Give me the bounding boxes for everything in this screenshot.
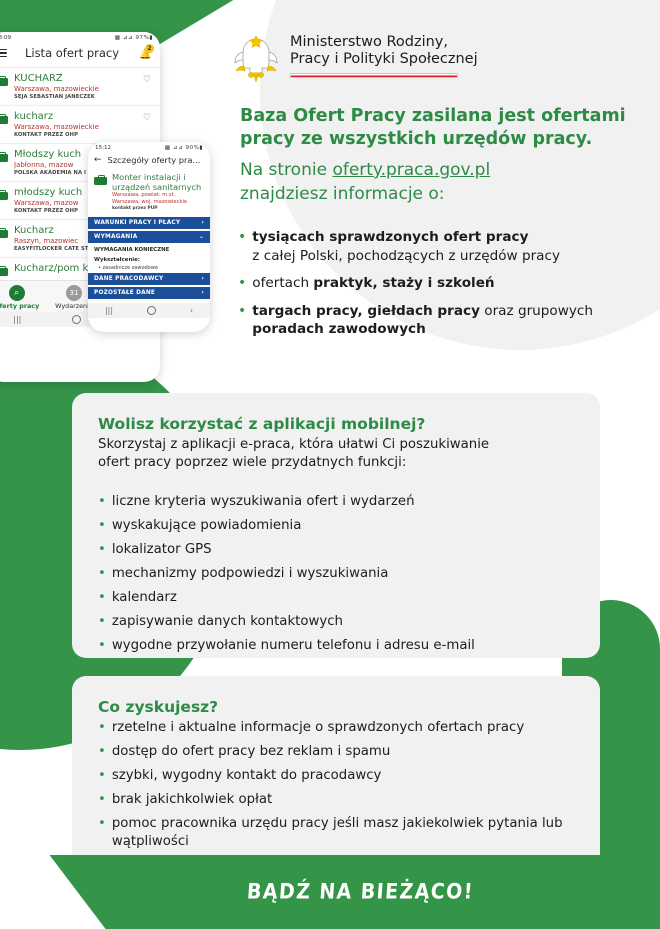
nav-recents-icon[interactable]: ||| [13,315,21,324]
bullet-bold-second-line: poradach zawodowych [252,321,426,337]
bullet-dot-icon: • [98,767,106,785]
polish-flag-bar [290,73,458,78]
detail-offer-title-line2: urządzeń sanitarnych [112,182,204,192]
search-icon: ⌕ [9,285,25,301]
bullet-dot-icon: • [98,613,106,631]
bullet-suffix-text: oraz grupowych [480,303,593,319]
list-item-label: wyskakujące powiadomienia [112,517,574,535]
bullet-dot-icon: • [98,517,106,535]
list-item: •pomoc pracownika urzędu pracy jeśli mas… [98,815,574,850]
detail-title: Szczegóły oferty pra... [104,155,204,165]
list-item: •wyskakujące powiadomienia [98,517,574,535]
detail-app-bar: ← Szczegóły oferty pra... [88,152,210,170]
section-dane-pracodawcy[interactable]: DANE PRACODAWCY › [88,273,210,285]
offer-location: Warszawa, mazowieckie [14,85,143,94]
bullet-dot-icon: • [98,493,106,511]
phone-status-bar: 13:09 ▩ ⊿⊿ 97%▮ [0,32,160,42]
hamburger-menu-icon[interactable] [0,49,7,58]
card-mobile-app: Wolisz korzystać z aplikacji mobilnej? S… [72,393,600,658]
bullet-dot-icon: • [238,274,246,293]
briefcase-icon [0,152,8,162]
top-bullet-list: • tysiącach sprawdzonych ofert pracy z c… [238,228,648,348]
list-item: •szybki, wygodny kontakt do pracodawcy [98,767,574,785]
chevron-right-icon: › [201,276,204,282]
list-item-label: brak jakichkolwiek opłat [112,791,574,809]
bullet-bold-text: praktyk, staży i szkoleń [313,275,494,291]
bullet-dot-icon: • [98,815,106,850]
offer-employer: SEJA SEBASTIAN JANECZEK [14,94,143,101]
requirements-heading: WYMAGANIA KONIECZNE [88,243,210,253]
phone-status-bar: 15:12 ▩ ⊿⊿ 90%▮ [88,142,210,152]
chevron-right-icon: › [201,220,204,226]
favourite-heart-icon[interactable]: ♡ [143,113,153,139]
section-label: WYMAGANIA [94,234,137,240]
notification-bell-icon[interactable]: 🔔 2 [137,45,153,61]
section-label: DANE PRACODAWCY [94,276,163,282]
list-item: •liczne kryteria wyszukiwania ofert i wy… [98,493,574,511]
briefcase-icon [0,266,8,276]
list-item: •lokalizator GPS [98,541,574,559]
chevron-right-icon: › [201,290,204,296]
gains-list: •rzetelne i aktualne informacje o sprawd… [98,719,574,850]
phone-mockup-offer-detail: 15:12 ▩ ⊿⊿ 90%▮ ← Szczegóły oferty pra..… [88,142,210,332]
headline-bold-line-1: Baza Ofert Pracy zasilana jest ofertami [240,105,640,128]
ministry-name-line-2: Pracy i Polityki Społecznej [290,51,478,68]
list-item-label: wygodne przywołanie numeru telefonu i ad… [112,637,574,655]
bullet-dot-icon: • [98,589,106,607]
status-right-icons: ▩ ⊿⊿ 97%▮ [115,35,153,41]
section-pozostale-dane[interactable]: POZOSTAŁE DANE › [88,287,210,299]
list-item: •wygodne przywołanie numeru telefonu i a… [98,637,574,655]
briefcase-icon [0,190,8,200]
list-item: •zapisywanie danych kontaktowych [98,613,574,631]
bottom-banner-text: BĄDŹ NA BIEŻĄCO! [246,880,474,905]
status-time: 13:09 [0,35,11,41]
offer-title: KUCHARZ [14,73,143,85]
bottom-banner-text-wrap: BĄDŹ NA BIEŻĄCO! [0,855,660,929]
section-label: POZOSTAŁE DANE [94,290,155,296]
back-arrow-icon[interactable]: ← [94,155,104,165]
list-item-label: zapisywanie danych kontaktowych [112,613,574,631]
list-item-label: szybki, wygodny kontakt do pracodawcy [112,767,574,785]
card-what-you-gain: Co zyskujesz? •rzetelne i aktualne infor… [72,676,600,870]
mobile-feature-list: •liczne kryteria wyszukiwania ofert i wy… [98,493,574,655]
section-wymagania[interactable]: WYMAGANIA ⌄ [88,231,210,243]
list-item: •brak jakichkolwiek opłat [98,791,574,809]
calendar-icon: 31 [66,285,82,301]
ministry-name-line-1: Ministerstwo Rodziny, [290,34,478,51]
headline-block: Baza Ofert Pracy zasilana jest ofertami … [240,105,640,206]
bullet-dot-icon: • [98,541,106,559]
offer-location: Warszawa, mazowieckie [14,123,143,132]
detail-offer-contact: kontakt przez PUP [112,206,204,212]
list-item: • tysiącach sprawdzonych ofert pracy z c… [238,228,648,265]
phone-app-bar: Lista ofert pracy 🔔 2 [0,42,160,67]
nav-home-icon[interactable] [72,315,81,324]
polish-eagle-emblem [232,30,280,86]
nav-home-icon[interactable] [147,306,156,315]
section-warunki-pracy[interactable]: WARUNKI PRACY I PŁACY › [88,217,210,229]
card-title: Co zyskujesz? [98,698,574,716]
briefcase-icon [0,76,8,86]
section-label: WARUNKI PRACY I PŁACY [94,220,180,226]
android-nav-bar[interactable]: ||| ‹ [88,303,210,318]
bullet-bold-text: targach pracy, giełdach pracy [252,303,480,319]
bullet-dot-icon: • [98,565,106,583]
status-right-icons: ▩ ⊿⊿ 90%▮ [165,145,203,151]
list-item-label: pomoc pracownika urzędu pracy jeśli masz… [112,815,574,850]
nav-back-icon[interactable]: ‹ [190,306,193,315]
headline-prefix: Na stronie [240,160,332,180]
favourite-heart-icon[interactable]: ♡ [143,75,153,101]
bullet-dot-icon: • [98,719,106,737]
bullet-secondary-text: z całej Polski, pochodzących z urzędów p… [252,248,560,264]
briefcase-icon [0,228,8,238]
card-subtitle-line-1: Skorzystaj z aplikacji e-praca, która uł… [98,436,574,454]
detail-offer-location-2: Warszawa, woj. mazowieckie [112,199,204,206]
detail-offer-location-1: Warszawa, powiat: m.st. [112,192,204,199]
offer-title: kucharz [14,111,143,123]
list-item-label: liczne kryteria wyszukiwania ofert i wyd… [112,493,574,511]
bullet-prefix-text: ofertach [252,275,313,291]
headline-bold-line-2: pracy ze wszystkich urzędów pracy. [240,128,640,151]
nav-recents-icon[interactable]: ||| [105,306,113,315]
headline-suffix: znajdziesz informacje o: [240,182,640,206]
tab-oferty-pracy[interactable]: ⌕ Oferty pracy [0,285,45,310]
bullet-dot-icon: • [238,228,246,265]
card-title: Wolisz korzystać z aplikacji mobilnej? [98,415,574,433]
list-item: •rzetelne i aktualne informacje o sprawd… [98,719,574,737]
briefcase-icon [94,175,107,185]
requirements-item: • zasadnicze zawodowe [88,263,210,271]
tab-label: Oferty pracy [0,302,45,310]
status-time: 15:12 [95,145,111,151]
bullet-dot-icon: • [98,743,106,761]
list-item-label: rzetelne i aktualne informacje o sprawdz… [112,719,574,737]
requirements-subheading: Wykształcenie: [88,253,210,263]
notification-badge: 2 [145,44,154,53]
list-item-label: mechanizmy podpowiedzi i wyszukiwania [112,565,574,583]
bullet-dot-icon: • [98,791,106,809]
list-item[interactable]: kucharz Warszawa, mazowieckie KONTAKT PR… [0,105,160,143]
list-item-label: dostęp do ofert pracy bez reklam i spamu [112,743,574,761]
headline-regular: Na stronie oferty.praca.gov.pl znajdzies… [240,158,640,206]
card-subtitle-line-2: ofert pracy poprzez wiele przydatnych fu… [98,454,574,472]
briefcase-icon [0,114,8,124]
chevron-down-icon: ⌄ [199,234,204,240]
website-link[interactable]: oferty.praca.gov.pl [332,160,490,180]
list-item: • targach pracy, giełdach pracy oraz gru… [238,302,648,339]
detail-offer-title-line1: Monter instalacji i [112,172,204,182]
app-bar-title: Lista ofert pracy [7,46,137,60]
bullet-dot-icon: • [98,637,106,655]
bullet-dot-icon: • [238,302,246,339]
offer-employer: KONTAKT PRZEZ OHP [14,132,143,139]
list-item-label: lokalizator GPS [112,541,574,559]
list-item: •mechanizmy podpowiedzi i wyszukiwania [98,565,574,583]
poster-page: 13:09 ▩ ⊿⊿ 97%▮ Lista ofert pracy 🔔 2 KU… [0,0,660,929]
ministry-header: Ministerstwo Rodziny, Pracy i Polityki S… [232,30,478,86]
detail-offer-header: Monter instalacji i urządzeń sanitarnych… [88,170,210,215]
list-item-label: kalendarz [112,589,574,607]
list-item: • ofertach praktyk, staży i szkoleń [238,274,648,293]
list-item: •kalendarz [98,589,574,607]
list-item[interactable]: KUCHARZ Warszawa, mazowieckie SEJA SEBAS… [0,67,160,105]
bullet-bold-text: tysiącach sprawdzonych ofert pracy [252,229,528,245]
list-item: •dostęp do ofert pracy bez reklam i spam… [98,743,574,761]
